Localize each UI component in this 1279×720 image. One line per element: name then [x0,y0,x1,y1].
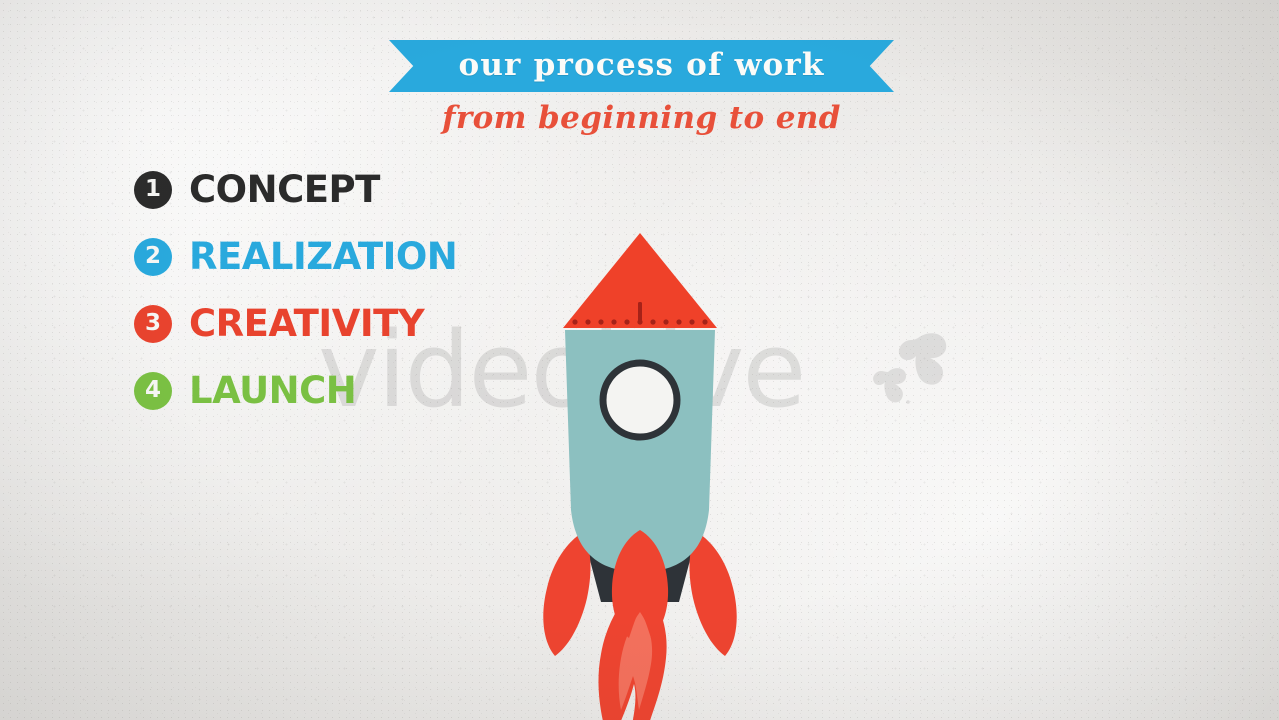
banner-title: our process of work [389,40,894,92]
step-item-1[interactable]: 1 CONCEPT [134,162,554,217]
step-number-badge-2: 2 [134,238,172,276]
step-label-4: LAUNCH [189,372,356,409]
step-label-3: CREATIVITY [189,305,424,342]
rocket-illustration [455,210,825,720]
butterfly-mark-icon [870,328,960,408]
rocket-fin-right [690,532,737,656]
step-number-badge-4: 4 [134,372,172,410]
title-ribbon: our process of work [389,40,894,92]
step-number-badge-3: 3 [134,305,172,343]
rocket-window [603,363,677,437]
rocket-fin-left [543,532,590,656]
slide-canvas: videohive our process of work from begin… [0,0,1279,720]
step-label-2: REALIZATION [189,238,457,275]
step-number-badge-1: 1 [134,171,172,209]
banner-subtitle: from beginning to end [389,100,894,136]
step-label-1: CONCEPT [189,171,380,208]
